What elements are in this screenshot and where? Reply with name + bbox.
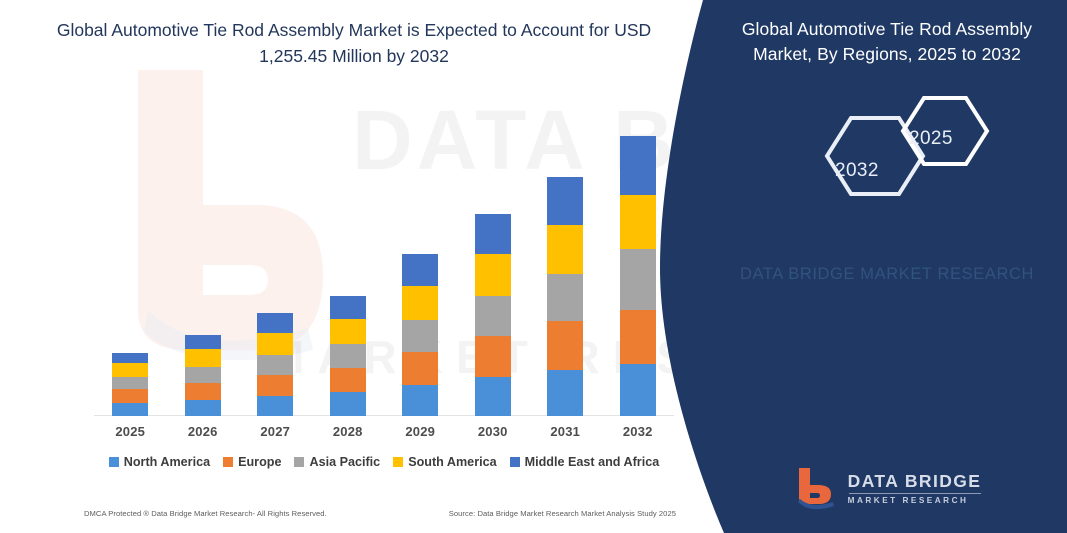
legend-swatch-icon [294,457,304,467]
bar-segment [330,392,366,416]
bar-segment [547,321,583,370]
legend-label: Europe [238,455,281,469]
x-axis-label: 2031 [529,424,602,439]
hexagon-label-2032: 2032 [835,160,879,182]
legend-item[interactable]: Middle East and Africa [510,455,660,469]
panel-brand-text: DATA BRIDGE MARKET RESEARCH [707,262,1067,288]
bar-segment [402,254,438,286]
hexagon-label-2025: 2025 [909,128,953,150]
bar-segment [547,177,583,225]
bar-stack [330,296,366,416]
x-axis-label: 2026 [167,424,240,439]
bar-segment [112,353,148,363]
bar-segment [112,363,148,377]
bar-segment [257,355,293,375]
logo-tagline: MARKET RESEARCH [848,497,982,505]
bar-segment [475,254,511,296]
bar-segment [402,385,438,416]
bar-segment [475,336,511,377]
footer: DMCA Protected ® Data Bridge Market Rese… [84,509,676,518]
x-axis-labels: 20252026202720282029203020312032 [94,424,674,439]
x-axis-label: 2029 [384,424,457,439]
legend-label: Middle East and Africa [525,455,660,469]
bar-segment [185,349,221,367]
bar-segment [547,274,583,321]
bar-column [94,112,167,416]
bar-segment [330,296,366,319]
legend-label: South America [408,455,496,469]
bar-segment [620,249,656,310]
bar-segment [475,377,511,416]
data-bridge-logo-icon [793,466,839,510]
bar-segment [620,195,656,249]
x-axis-label: 2030 [457,424,530,439]
x-axis-label: 2028 [312,424,385,439]
legend-item[interactable]: North America [109,455,210,469]
chart-legend: North AmericaEuropeAsia PacificSouth Ame… [84,455,684,469]
logo-divider [849,493,982,494]
bar-segment [547,370,583,416]
bar-segment [185,383,221,400]
bar-segment [112,403,148,416]
bar-stack [475,214,511,416]
bar-stack [547,177,583,416]
logo-wordmark: DATA BRIDGE MARKET RESEARCH [848,471,982,505]
bar-stack [185,335,221,416]
x-axis-label: 2027 [239,424,312,439]
x-axis-label: 2025 [94,424,167,439]
bar-segment [112,377,148,389]
infographic-root: DATA BRIDGE MARKET RESEARCH Global Autom… [0,0,1067,533]
legend-swatch-icon [510,457,520,467]
bar-column [457,112,530,416]
bar-segment [257,333,293,355]
bar-segment [257,375,293,396]
bar-segment [185,367,221,383]
bar-segment [475,214,511,254]
bar-column [312,112,385,416]
x-axis-label: 2032 [602,424,675,439]
bar-stack [402,254,438,416]
legend-swatch-icon [109,457,119,467]
legend-item[interactable]: Europe [223,455,281,469]
hexagon-pair-graphic [803,96,1067,216]
bar-column [384,112,457,416]
bar-column [602,112,675,416]
bar-segment [257,313,293,333]
bar-stack [257,313,293,416]
bar-column [167,112,240,416]
bar-segment [185,335,221,349]
chart-title: Global Automotive Tie Rod Assembly Marke… [44,18,664,70]
footer-source: Source: Data Bridge Market Research Mark… [449,509,676,518]
legend-label: Asia Pacific [309,455,380,469]
legend-label: North America [124,455,210,469]
bar-segment [330,368,366,392]
bar-stack [112,353,148,416]
bar-segment [475,296,511,336]
bar-segment [402,352,438,385]
bar-segment [257,396,293,416]
legend-swatch-icon [393,457,403,467]
legend-swatch-icon [223,457,233,467]
brand-logo: DATA BRIDGE MARKET RESEARCH [715,466,1059,510]
bar-segment [330,344,366,368]
bar-segment [185,400,221,416]
bar-segment [402,286,438,320]
bar-stack [620,136,656,416]
bar-segment [330,319,366,344]
bar-column [529,112,602,416]
legend-item[interactable]: South America [393,455,496,469]
bar-segment [112,389,148,403]
right-panel-content: Global Automotive Tie Rod Assembly Marke… [707,0,1067,533]
bar-segment [620,364,656,416]
bar-column [239,112,312,416]
chart-panel: DATA BRIDGE MARKET RESEARCH Global Autom… [0,0,712,533]
bar-segment [402,320,438,352]
bar-segment [547,225,583,274]
footer-copyright: DMCA Protected ® Data Bridge Market Rese… [84,509,327,518]
bar-segment [620,310,656,364]
legend-item[interactable]: Asia Pacific [294,455,380,469]
right-panel-title: Global Automotive Tie Rod Assembly Marke… [715,17,1059,67]
logo-name: DATA BRIDGE [848,473,982,491]
bar-segment [620,136,656,195]
bar-chart-plot [94,112,674,416]
